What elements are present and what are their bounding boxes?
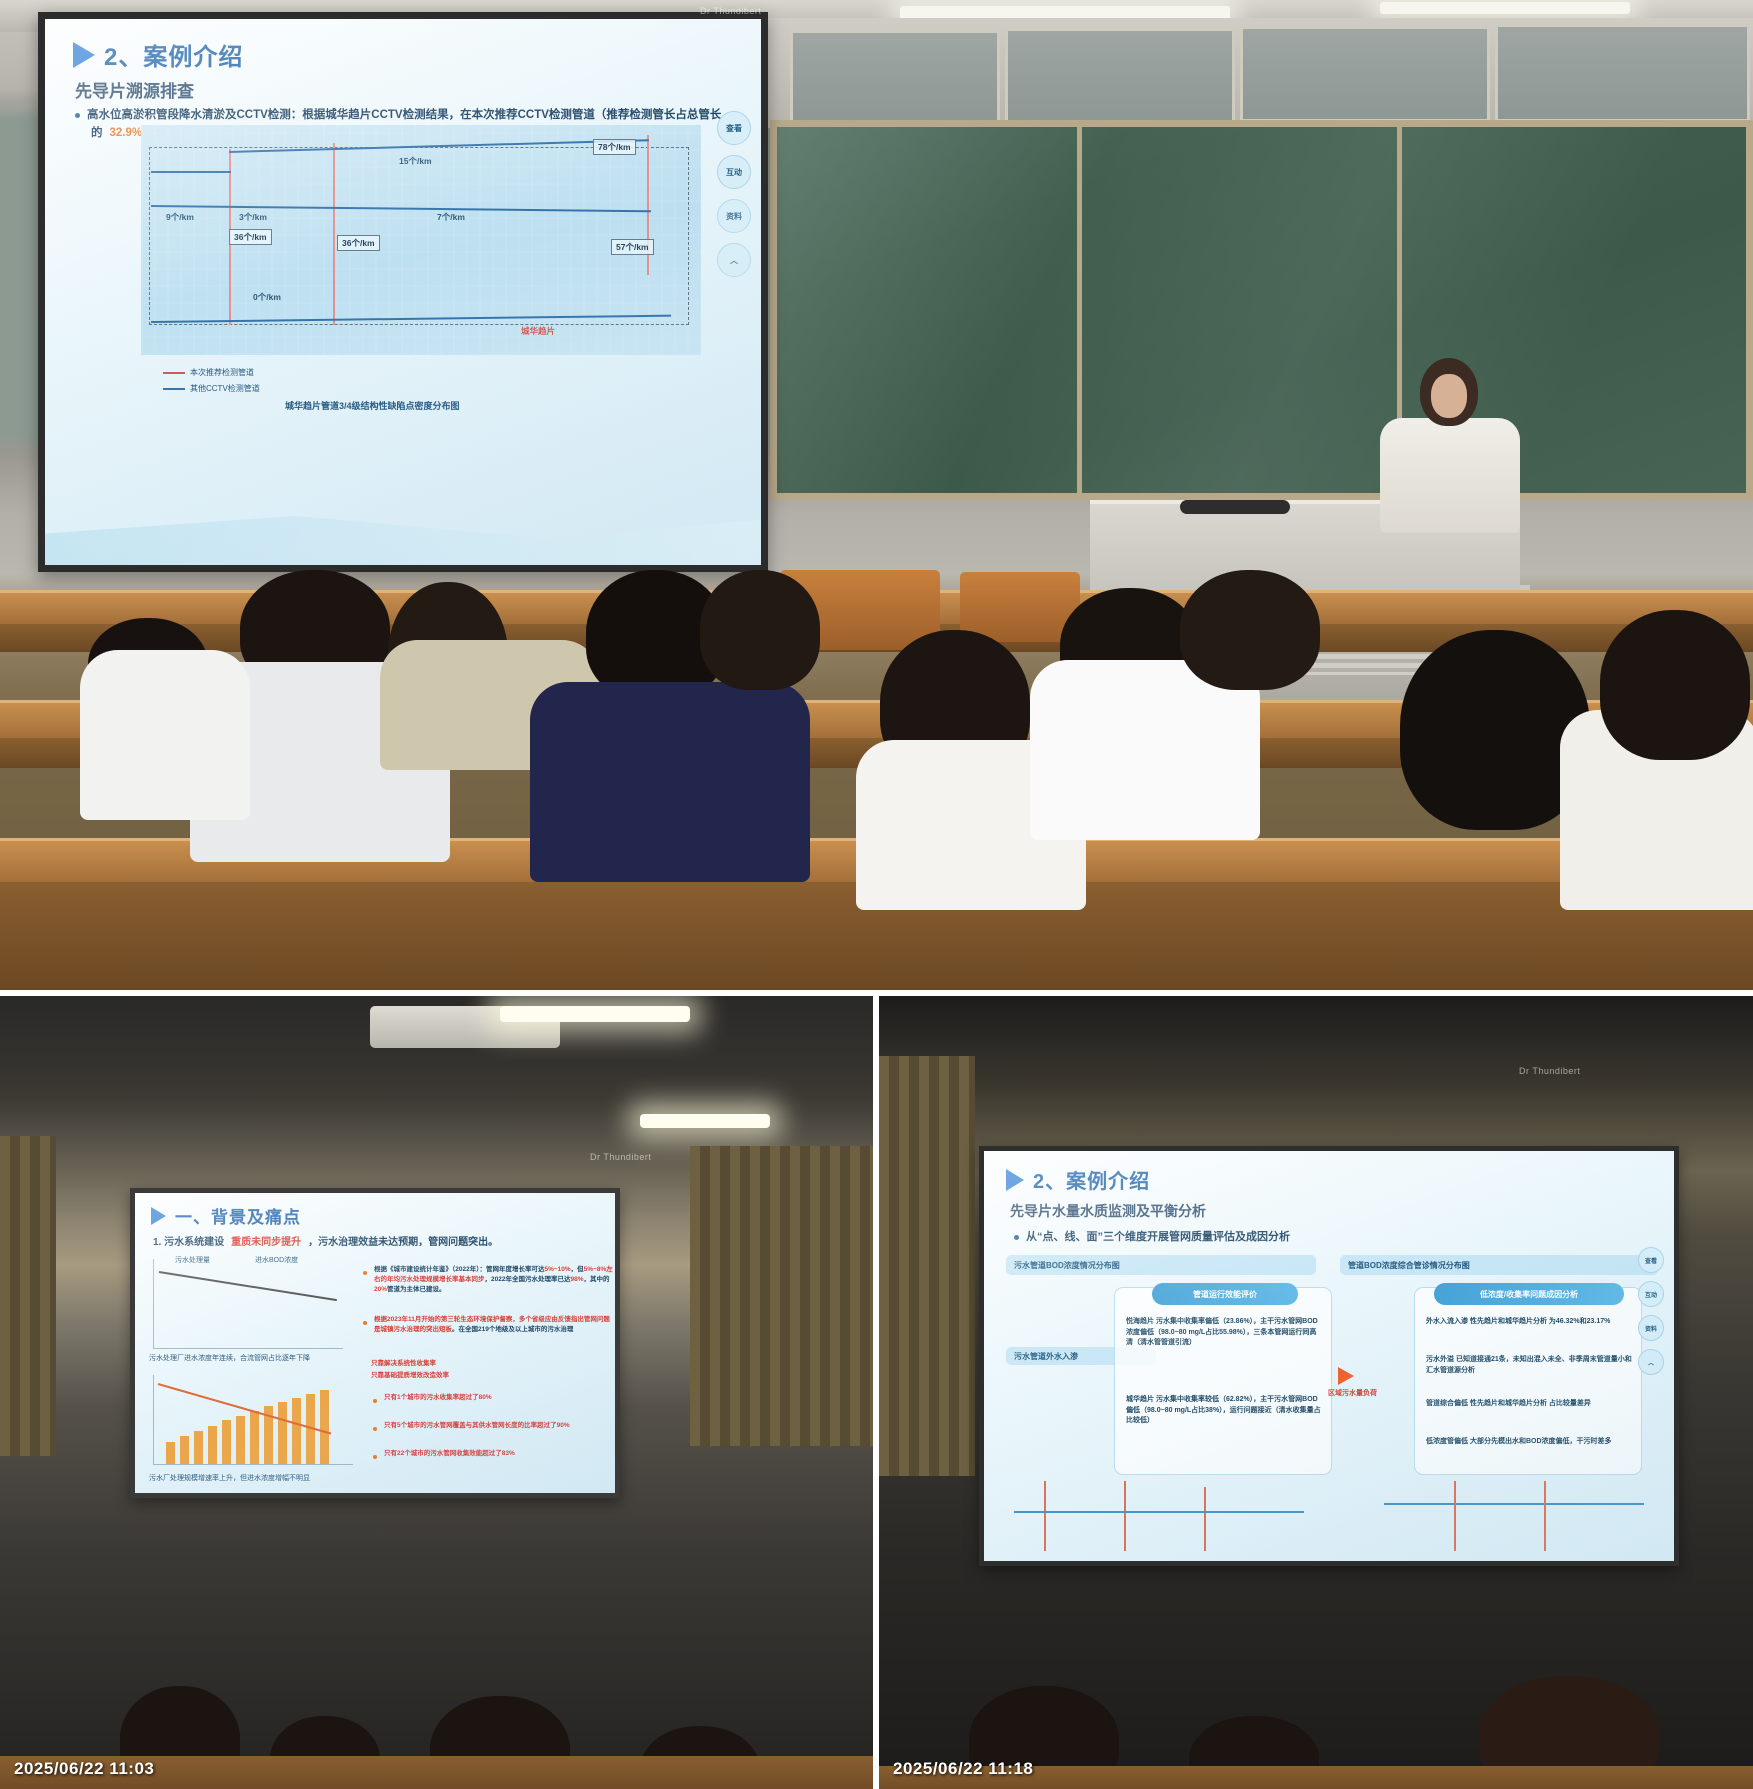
triangle-bullet-icon-br bbox=[1006, 1169, 1024, 1191]
window-1 bbox=[790, 30, 1000, 126]
band-left: 污水管道BOD浓度情况分布图 bbox=[1006, 1255, 1316, 1275]
arrow-label: 区域污水量负荷 bbox=[1328, 1389, 1377, 1400]
bl-note-2b-dot-icon bbox=[373, 1427, 377, 1431]
bl-note-2a-text: 只有1个城市的污水收集率超过了80% bbox=[384, 1393, 492, 1403]
map-red-boundary-2 bbox=[333, 143, 335, 325]
photo-collage: 2、案例介绍 先导片溯源排查 高水位高淤积管段降水清淤及CCTV检测：根据城华趋… bbox=[0, 0, 1753, 1789]
curtain-br-left bbox=[879, 1056, 975, 1476]
br-pill-0[interactable]: 查看 bbox=[1638, 1247, 1664, 1273]
bar-10 bbox=[292, 1398, 301, 1464]
map-label-3: 7个/km bbox=[437, 211, 465, 223]
student-torso-2 bbox=[80, 650, 250, 820]
schematic-line-4 bbox=[1014, 1511, 1304, 1513]
bar-7 bbox=[250, 1411, 259, 1464]
bl-note-2c-dot-icon bbox=[373, 1455, 377, 1459]
window-4 bbox=[1495, 24, 1750, 122]
panel-right-item-2-text: 管道综合偏低 性先趋片和城华趋片分析 占比较量差异 bbox=[1426, 1400, 1591, 1407]
curtain-left bbox=[0, 1136, 56, 1456]
slide-case-study: 2、案例介绍 先导片溯源排查 高水位高淤积管段降水清淤及CCTV检测：根据城华趋… bbox=[45, 19, 761, 565]
slide-bullet-1-text: 高水位高淤积管段降水清淤及CCTV检测：根据城华趋片CCTV检测结果，在本次推荐… bbox=[87, 107, 721, 125]
slide-pill-0[interactable]: 查看 bbox=[717, 111, 751, 145]
legend-label-0: 本次推荐检测管道 bbox=[190, 367, 254, 378]
map-callout-3: 57个/km bbox=[611, 239, 654, 255]
bar-9 bbox=[278, 1402, 287, 1464]
map-callout-1: 36个/km bbox=[229, 229, 272, 245]
student-head-8 bbox=[1180, 570, 1320, 690]
panel-right-item-3: 低浓度管偏低 大部分先模出水和BOD浓度偏低，干污时差多 bbox=[1426, 1437, 1632, 1448]
slide-bl-title: 一、背景及痛点 bbox=[175, 1203, 301, 1228]
blackboard-glare bbox=[777, 127, 1746, 493]
triangle-bullet-icon bbox=[73, 42, 95, 68]
bl-note-1: 根据《城市建设统计年鉴》（2022年）：管网年度增长率可达5%~10%，但5%~… bbox=[363, 1265, 613, 1295]
legend-label-1: 其他CCTV检测管道 bbox=[190, 383, 260, 394]
microphone bbox=[1180, 500, 1290, 514]
audience-area bbox=[0, 570, 1753, 990]
tube-light-1 bbox=[500, 1006, 690, 1022]
chart-left-legend-1: 进水BOD浓度 bbox=[255, 1255, 298, 1265]
schematic-line-6 bbox=[1454, 1481, 1456, 1551]
panel-right-item-0-text: 外水入流入渗 性先趋片和城华趋片分析 为46.32%和23.17% bbox=[1426, 1318, 1610, 1325]
slide-bullet-1: 高水位高淤积管段降水清淤及CCTV检测：根据城华趋片CCTV检测结果，在本次推荐… bbox=[75, 107, 735, 125]
window-3 bbox=[1240, 26, 1490, 122]
br-bullet-dot-icon bbox=[1014, 1235, 1019, 1240]
slide-subtitle: 先导片溯源排查 bbox=[75, 77, 194, 102]
slide-br-subtitle: 先导片水量水质监测及平衡分析 bbox=[1010, 1201, 1206, 1221]
bottom-photo-row: 一、背景及痛点 1. 污水系统建设重质未同步提升，污水治理效益未达预期，管网问题… bbox=[0, 996, 1753, 1789]
bl-point-1-pre: 1. 污水系统建设 bbox=[153, 1235, 224, 1251]
bl-note-2: 根据2023年11月开始的第三轮生态环境保护督察，多个省级应由反馈指出管网问题是… bbox=[363, 1315, 613, 1335]
bl-note-2c-text: 只有22个城市的污水管网收集效能超过了83% bbox=[384, 1449, 515, 1459]
panel-left-item-0: 悦海趋片 污水集中收集率偏低（23.86%），主干污水管网BOD浓度偏低（98.… bbox=[1126, 1317, 1322, 1349]
bl-note-1-hl4: 20% bbox=[374, 1286, 387, 1293]
slide-pill-1[interactable]: 互动 bbox=[717, 155, 751, 189]
bar-3 bbox=[194, 1431, 203, 1464]
bl-note-2c: 只有22个城市的污水管网收集效能超过了83% bbox=[373, 1449, 618, 1459]
map-callout-0: 78个/km bbox=[593, 139, 636, 155]
schematic-line-7 bbox=[1544, 1481, 1546, 1551]
bl-note-2-mid: 。在全国219个地级及以上城市的污水治理 bbox=[452, 1326, 573, 1333]
timestamp-bottom-left: 2025/06/22 11:03 bbox=[14, 1759, 154, 1779]
photo-watermark-bl: Dr Thundibert bbox=[590, 1152, 651, 1162]
bl-note-2-dot-icon bbox=[363, 1321, 367, 1325]
photo-watermark-top: Dr Thundibert bbox=[700, 6, 761, 16]
map-legend-item-0: 本次推荐检测管道 bbox=[163, 367, 254, 378]
panel-left-item-1-text: 城华趋片 污水集中收集率较低（62.82%），主干污水管网BOD偏低（98.0~… bbox=[1126, 1396, 1321, 1424]
chart-left-legend-0: 污水处理量 bbox=[175, 1255, 210, 1265]
timestamp-bottom-right: 2025/06/22 11:18 bbox=[893, 1759, 1033, 1779]
panel-right-item-0: 外水入流入渗 性先趋片和城华趋片分析 为46.32%和23.17% bbox=[1426, 1317, 1632, 1328]
map-label-1: 9个/km bbox=[166, 211, 194, 223]
ceiling-light-2 bbox=[1380, 2, 1630, 14]
br-pill-3[interactable]: ︿ bbox=[1638, 1349, 1664, 1375]
panel-left-item-1: 城华趋片 污水集中收集率较低（62.82%），主干污水管网BOD偏低（98.0~… bbox=[1126, 1395, 1322, 1427]
bl-note-quote-2: 只靠基础提质增效改造效率 bbox=[371, 1371, 616, 1381]
bl-point-1-hl: 重质未同步提升 bbox=[231, 1235, 301, 1251]
photo-watermark-br: Dr Thundibert bbox=[1519, 1066, 1580, 1076]
presenter-body bbox=[1380, 418, 1520, 533]
blackboard bbox=[770, 120, 1753, 500]
tube-light-2 bbox=[640, 1114, 770, 1128]
panel-right-item-2: 管道综合偏低 性先趋片和城华趋片分析 占比较量差异 bbox=[1426, 1399, 1632, 1410]
photo-background-slide: 一、背景及痛点 1. 污水系统建设重质未同步提升，污水治理效益未达预期，管网问题… bbox=[0, 996, 873, 1789]
bl-note-2a-dot-icon bbox=[373, 1399, 377, 1403]
bl-note-1-mid: ，但 bbox=[571, 1266, 584, 1273]
bl-note-2b-text: 只有5个城市的污水管网覆盖与其供水管网长度的比率超过了90% bbox=[384, 1421, 570, 1431]
bl-note-1-hl3: 98% bbox=[570, 1276, 583, 1283]
bl-note-2a: 只有1个城市的污水收集率超过了80% bbox=[373, 1393, 618, 1403]
panel-right-header: 低浓度/收集率问题成因分析 bbox=[1434, 1283, 1624, 1305]
chart-left-footer: 污水厂处理规模增速率上升，但进水浓度增幅不明显 bbox=[149, 1473, 310, 1483]
slide-br-title: 2、案例介绍 bbox=[1033, 1165, 1150, 1194]
bar-4 bbox=[208, 1426, 217, 1464]
presenter-face bbox=[1431, 374, 1467, 418]
bl-note-2-pre: 根据2023年11月开始的第三轮生态环境保护督察，多个省级应由反馈指出 bbox=[374, 1316, 584, 1323]
bar-1 bbox=[166, 1442, 175, 1464]
bl-note-1-dot-icon bbox=[363, 1271, 367, 1275]
legend-swatch-1 bbox=[163, 388, 185, 390]
slide-pill-2[interactable]: 资料 bbox=[717, 199, 751, 233]
bl-note-1-end: ，其中的 bbox=[583, 1276, 609, 1283]
slide-bl-title-row: 一、背景及痛点 bbox=[151, 1203, 301, 1228]
map-label-2: 3个/km bbox=[239, 211, 267, 223]
bl-note-1-hl1: 5%~10% bbox=[544, 1266, 570, 1273]
slide-background-pain-points: 一、背景及痛点 1. 污水系统建设重质未同步提升，污水治理效益未达预期，管网问题… bbox=[135, 1193, 615, 1493]
chart-left-caption: 污水处理厂进水浓度年连续，合流管网占比逐年下降 bbox=[149, 1353, 310, 1363]
photo-water-quality-slide: 2、案例介绍 先导片水量水质监测及平衡分析 从“点、线、面”三个维度开展管网质量… bbox=[879, 996, 1753, 1789]
projection-screen-top: 2、案例介绍 先导片溯源排查 高水位高淤积管段降水清淤及CCTV检测：根据城华趋… bbox=[38, 12, 768, 572]
student-head-5 bbox=[700, 570, 820, 690]
pipeline-density-map: 15个/km 9个/km 3个/km 7个/km 0个/km 78个/km 36… bbox=[141, 125, 701, 355]
map-callout-2: 36个/km bbox=[337, 235, 380, 251]
schematic-line-2 bbox=[1124, 1481, 1126, 1551]
panel-left-header: 管道运行效能评价 bbox=[1152, 1283, 1298, 1305]
slide-title-row: 2、案例介绍 bbox=[73, 37, 243, 72]
chart-left-bars bbox=[153, 1375, 353, 1465]
slide-pill-3[interactable]: ︿ bbox=[717, 243, 751, 277]
window-2 bbox=[1005, 28, 1235, 124]
bullet-dot-icon bbox=[75, 113, 80, 118]
map-legend-item-1: 其他CCTV检测管道 bbox=[163, 383, 260, 394]
bar-2 bbox=[180, 1436, 189, 1464]
legend-swatch-0 bbox=[163, 372, 185, 374]
panel-left bbox=[1114, 1287, 1332, 1475]
panel-right-item-1: 污水外溢 已知道接通21条，未知出混入未全、非季周末管道量小和汇水管道源分析 bbox=[1426, 1355, 1632, 1376]
bullet-2-pre: 的 bbox=[91, 125, 103, 143]
bl-note-quote-1: 只靠解决系统性收集率 bbox=[371, 1359, 616, 1369]
panel-left-item-0-text: 悦海趋片 污水集中收集率偏低（23.86%），主干污水管网BOD浓度偏低（98.… bbox=[1126, 1318, 1318, 1346]
slide-br-bullet-1: 从“点、线、面”三个维度开展管网质量评估及成因分析 bbox=[1014, 1229, 1290, 1246]
curtain-right bbox=[690, 1146, 873, 1446]
student-torso-4 bbox=[530, 682, 810, 882]
bar-12 bbox=[320, 1390, 329, 1464]
figure-caption: 城华趋片管道3/4级结构性缺陷点密度分布图 bbox=[285, 399, 460, 412]
br-pill-1[interactable]: 互动 bbox=[1638, 1281, 1664, 1307]
bar-6 bbox=[236, 1416, 245, 1464]
br-pill-2[interactable]: 资料 bbox=[1638, 1315, 1664, 1341]
bl-quote-2: 只靠基础提质增效改造效率 bbox=[371, 1371, 449, 1381]
blackboard-divider bbox=[1077, 127, 1082, 493]
bl-quote-1: 只靠解决系统性收集率 bbox=[371, 1359, 436, 1369]
map-label-0: 15个/km bbox=[399, 155, 432, 167]
panel-right-item-3-text: 低浓度管偏低 大部分先模出水和BOD浓度偏低，干污时差多 bbox=[1426, 1438, 1612, 1445]
bl-point-1-post: ，污水治理效益未达预期，管网问题突出。 bbox=[308, 1235, 498, 1251]
student-head-10 bbox=[1600, 610, 1750, 760]
panel-right-item-1-text: 污水外溢 已知道接通21条，未知出混入未全、非季周末管道量小和汇水管道源分析 bbox=[1426, 1356, 1632, 1374]
bl-note-2b: 只有5个城市的污水管网覆盖与其供水管网长度的比率超过了90% bbox=[373, 1421, 618, 1431]
slide-water-balance: 2、案例介绍 先导片水量水质监测及平衡分析 从“点、线、面”三个维度开展管网质量… bbox=[984, 1151, 1674, 1561]
br-bullet-1-text: 从“点、线、面”三个维度开展管网质量评估及成因分析 bbox=[1026, 1229, 1290, 1246]
band-right: 管道BOD浓度综合管诊情况分布图 bbox=[1340, 1255, 1658, 1275]
chart-left bbox=[153, 1259, 343, 1349]
slide-footer-wave bbox=[45, 495, 761, 565]
slide-bl-point-1: 1. 污水系统建设重质未同步提升，污水治理效益未达预期，管网问题突出。 bbox=[153, 1235, 613, 1251]
flow-arrow-icon bbox=[1338, 1367, 1354, 1385]
map-blue-main-1 bbox=[151, 171, 231, 173]
projection-screen-bottom-left: 一、背景及痛点 1. 污水系统建设重质未同步提升，污水治理效益未达预期，管网问题… bbox=[130, 1188, 620, 1498]
bl-note-1-pre: 根据《城市建设统计年鉴》（2022年）：管网年度增长率可达 bbox=[374, 1266, 544, 1273]
bl-note-1-tail: 管道为主体已建设。 bbox=[387, 1286, 446, 1293]
triangle-bullet-icon-bl bbox=[151, 1207, 166, 1225]
bar-5 bbox=[222, 1420, 231, 1464]
schematic-line-5 bbox=[1384, 1503, 1644, 1505]
projection-screen-bottom-right: 2、案例介绍 先导片水量水质监测及平衡分析 从“点、线、面”三个维度开展管网质量… bbox=[979, 1146, 1679, 1566]
photo-lecture-hall-wide: 2、案例介绍 先导片溯源排查 高水位高淤积管段降水清淤及CCTV检测：根据城华趋… bbox=[0, 0, 1753, 990]
bl-note-1-post: ，2022年全国污水处理率已达 bbox=[485, 1276, 571, 1283]
slide-title: 2、案例介绍 bbox=[104, 37, 243, 72]
slide-br-title-row: 2、案例介绍 bbox=[1006, 1165, 1150, 1194]
bullet-2-pct-1: 32.9% bbox=[110, 125, 143, 143]
schematic-line-1 bbox=[1044, 1481, 1046, 1551]
map-label-4: 0个/km bbox=[253, 291, 281, 303]
schematic-line-3 bbox=[1204, 1487, 1206, 1551]
map-area-label: 城华趋片 bbox=[521, 325, 555, 337]
